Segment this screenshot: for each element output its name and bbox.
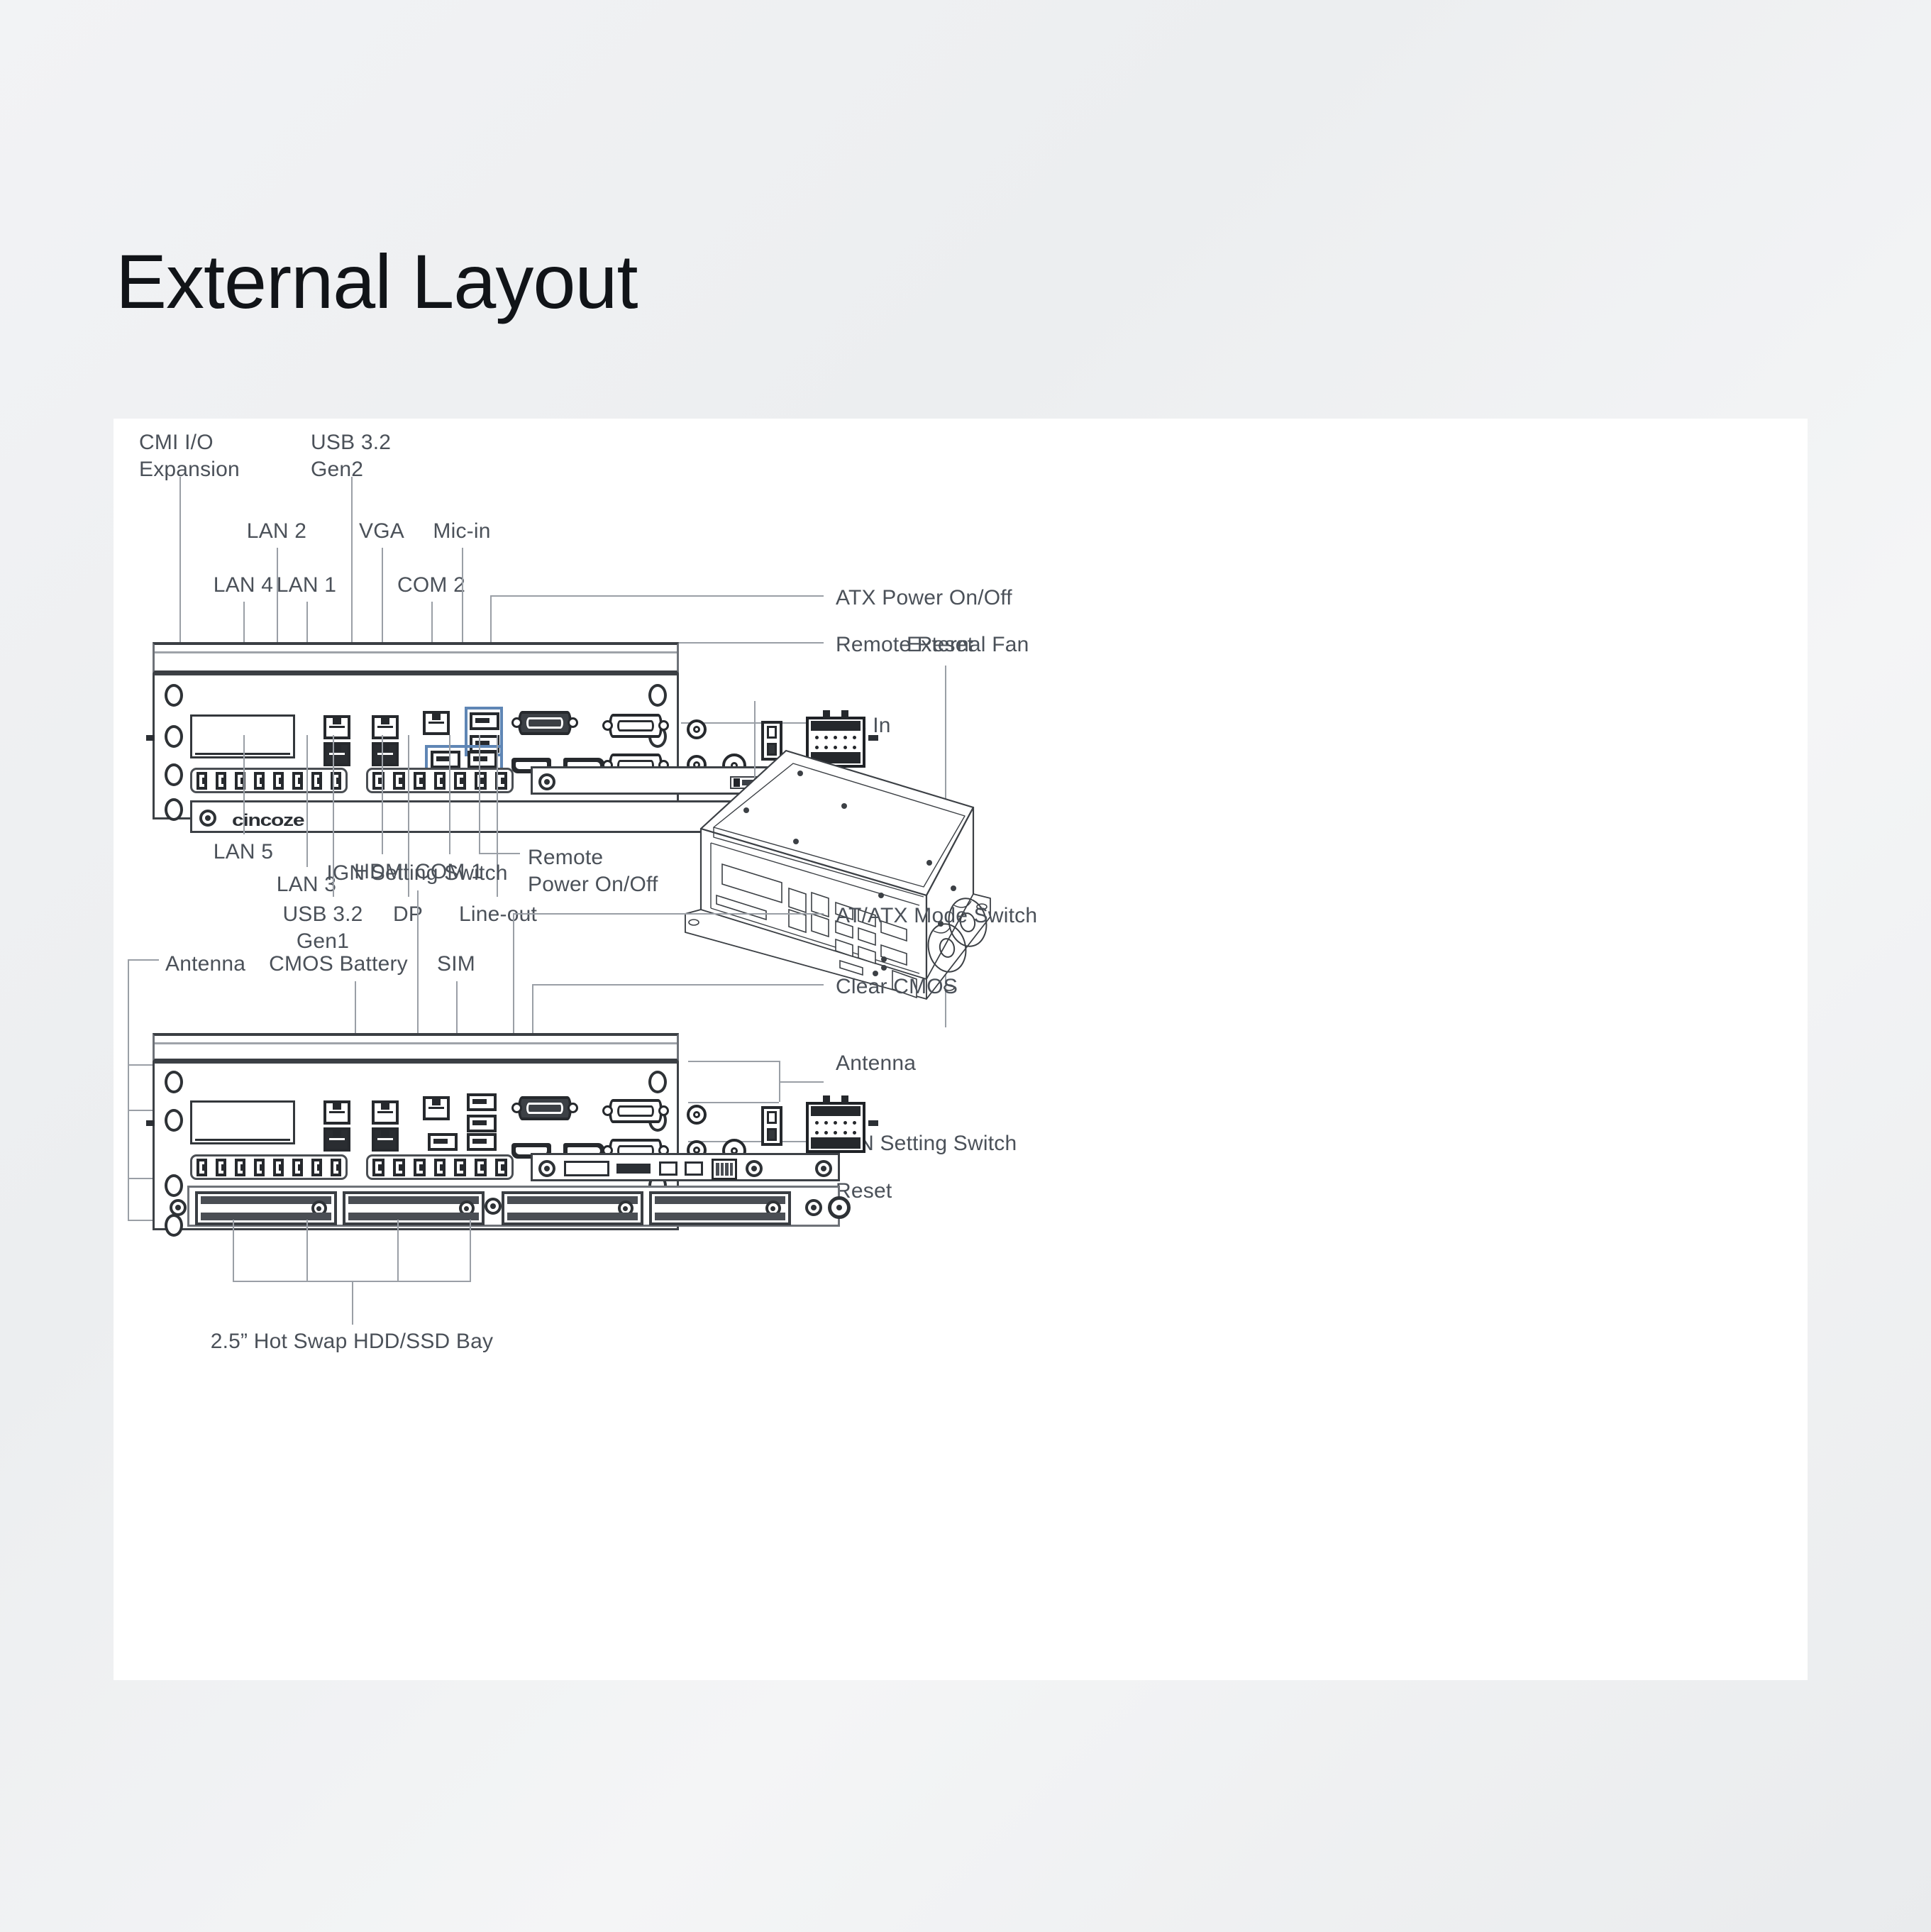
usb-port xyxy=(467,751,497,768)
hdd-bay[interactable] xyxy=(502,1191,643,1225)
label-atx-power-on-off: ATX Power On/Off xyxy=(836,585,1012,612)
hdd-bay[interactable] xyxy=(649,1191,791,1225)
plate-screw xyxy=(746,1160,763,1177)
cmos-battery-holder xyxy=(564,1161,609,1176)
rear-cmi-slot xyxy=(190,1100,295,1144)
rear-panel-chassis xyxy=(153,1033,679,1230)
lan-port xyxy=(372,1100,399,1125)
leader-ign-right xyxy=(688,1141,824,1142)
antenna-hole xyxy=(165,1109,183,1132)
led-icon xyxy=(311,772,322,790)
ign-setting-switch xyxy=(712,1159,737,1180)
rear-panel-rail xyxy=(153,1033,679,1061)
label-antenna-right: Antenna xyxy=(836,1050,916,1077)
usb-port xyxy=(428,1133,458,1151)
usb-port xyxy=(467,1093,497,1111)
leader-lan2 xyxy=(277,548,278,643)
antenna-hole xyxy=(165,1071,183,1093)
label-ign-setting-switch-top: IGN Setting Switch xyxy=(326,860,507,887)
lan3-port xyxy=(372,742,399,766)
label-external-fan: External Fan xyxy=(907,631,1029,658)
led-indicator-strip xyxy=(190,768,348,793)
dp-icon xyxy=(454,1159,466,1176)
leader-at-atx-h xyxy=(513,913,824,915)
leader-lan1 xyxy=(306,602,308,643)
leader-antenna-right-stub xyxy=(779,1081,824,1083)
usb-icon xyxy=(414,772,426,790)
lan1-port xyxy=(372,715,399,739)
led-icon xyxy=(216,1159,226,1176)
leader-ign-top xyxy=(417,890,419,1033)
sim-slot xyxy=(616,1164,651,1174)
switch-row-plate xyxy=(531,1153,840,1181)
usb-icon xyxy=(414,1159,426,1176)
leader-clear-cmos-h xyxy=(532,984,824,986)
label-lan4: LAN 4 xyxy=(214,572,273,599)
bay-screw xyxy=(170,1199,187,1216)
label-lan2: LAN 2 xyxy=(247,518,306,545)
leader-com2 xyxy=(431,602,433,643)
leader-bay-2 xyxy=(306,1220,308,1282)
hdmi-icon xyxy=(434,1159,446,1176)
leader-com1 xyxy=(449,735,450,854)
hdd-bay[interactable] xyxy=(343,1191,485,1225)
port-icon-strip xyxy=(366,768,514,793)
vga-port xyxy=(518,1096,572,1120)
mount-hole xyxy=(165,725,183,748)
mount-hole xyxy=(165,798,183,821)
plate-screw xyxy=(538,773,555,790)
front-panel-rail xyxy=(153,642,679,673)
led-icon xyxy=(292,772,303,790)
clear-cmos-jumper xyxy=(659,1161,677,1176)
cmi-io-expansion-slot xyxy=(190,714,295,758)
audio-icon xyxy=(475,772,487,790)
leader-bay-3 xyxy=(397,1220,399,1282)
leader-bay-drop xyxy=(352,1281,353,1325)
page-title: External Layout xyxy=(116,241,637,321)
bay-screw-large xyxy=(828,1196,851,1219)
label-remote-power-on-off: Remote Power On/Off xyxy=(528,844,658,899)
label-at-atx-mode-switch: AT/ATX Mode Switch xyxy=(836,902,1037,929)
label-clear-cmos: Clear CMOS xyxy=(836,973,958,1000)
lan4-port xyxy=(323,715,350,739)
label-line-out: Line-out xyxy=(459,901,537,928)
mount-hole xyxy=(165,763,183,786)
dc-in-terminal xyxy=(806,1102,865,1153)
leader-remote-power-v xyxy=(479,735,480,854)
antenna-hole xyxy=(165,1214,183,1237)
label-sim: SIM xyxy=(437,951,475,978)
leader-mic-in xyxy=(462,548,463,643)
mic-in-jack xyxy=(687,1105,707,1125)
bay-screw xyxy=(805,1199,822,1216)
leader-lan3 xyxy=(306,735,308,867)
led-icon xyxy=(216,772,226,790)
antenna-hole xyxy=(165,1174,183,1197)
led-icon xyxy=(197,1159,207,1176)
lan-port xyxy=(323,1100,350,1125)
front-panel-chassis: cincoze xyxy=(153,642,679,819)
label-com2: COM 2 xyxy=(397,572,465,599)
usb-port xyxy=(467,1115,497,1132)
label-usb32-gen2: USB 3.2 Gen2 xyxy=(311,429,391,484)
usb-port xyxy=(467,1133,497,1151)
leader-bay-1 xyxy=(233,1220,234,1282)
label-lan1: LAN 1 xyxy=(277,572,336,599)
leader-sim xyxy=(456,981,458,1033)
lan2-port xyxy=(423,711,450,735)
led-icon xyxy=(292,1159,303,1176)
leader-cmi-io xyxy=(179,477,181,643)
com-icon xyxy=(495,1159,507,1176)
dp-icon xyxy=(454,772,466,790)
lan-port xyxy=(372,1127,399,1152)
led-icon xyxy=(254,772,265,790)
label-cmi-io-expansion: CMI I/O Expansion xyxy=(139,429,240,484)
audio-icon xyxy=(475,1159,487,1176)
label-vga: VGA xyxy=(359,518,404,545)
hdd-bay-row xyxy=(187,1186,840,1227)
hdmi-icon xyxy=(434,772,446,790)
lan5-port xyxy=(323,742,350,766)
leader-vga xyxy=(382,548,383,643)
at-atx-mode-switch xyxy=(685,1161,703,1176)
hdd-bay[interactable] xyxy=(195,1191,337,1225)
leader-lan4 xyxy=(243,602,245,643)
front-panel-body: cincoze xyxy=(153,673,679,819)
led-indicator-strip xyxy=(190,1154,348,1180)
leader-lan5 xyxy=(243,735,245,834)
dc-in-nub xyxy=(868,1120,878,1126)
antenna-hole xyxy=(648,1071,667,1093)
label-cmos-battery: CMOS Battery xyxy=(269,951,408,978)
plate-screw xyxy=(199,810,216,827)
plate-screw xyxy=(815,1160,832,1177)
port-icon-strip xyxy=(366,1154,514,1180)
side-nub xyxy=(146,1120,155,1126)
leader-antenna-left-stub xyxy=(128,959,159,961)
com2-port xyxy=(609,714,663,738)
led-icon xyxy=(273,1159,284,1176)
label-lan5: LAN 5 xyxy=(214,839,273,866)
vga-port xyxy=(518,711,572,735)
rear-panel-body xyxy=(153,1061,679,1230)
bay-screw xyxy=(485,1198,502,1215)
leader-remote-power-h xyxy=(479,853,520,854)
leader-usb32gen2 xyxy=(351,477,353,643)
led-icon xyxy=(331,1159,341,1176)
led-icon xyxy=(254,1159,265,1176)
lan-icon xyxy=(393,772,405,790)
usb-port xyxy=(470,712,499,730)
led-icon xyxy=(311,1159,322,1176)
label-antenna-left: Antenna xyxy=(165,951,245,978)
led-icon xyxy=(235,1159,245,1176)
mount-hole xyxy=(648,684,667,707)
led-icon xyxy=(197,772,207,790)
led-icon xyxy=(273,772,284,790)
usb-port xyxy=(431,751,460,768)
plate-screw xyxy=(538,1160,555,1177)
label-hdd-ssd-bay: 2.5” Hot Swap HDD/SSD Bay xyxy=(211,1328,493,1355)
remote-power-reset-terminal xyxy=(761,1106,782,1146)
lan-port xyxy=(423,1096,450,1120)
com-port xyxy=(609,1099,663,1123)
slide-root: External Layout CMI I/O Expansion USB 3.… xyxy=(0,0,1931,1932)
label-mic-in: Mic-in xyxy=(433,518,490,545)
label-usb32-gen1: USB 3.2 Gen1 xyxy=(282,901,363,956)
lan-icon xyxy=(393,1159,405,1176)
side-nub xyxy=(146,735,155,741)
leader-bay-4 xyxy=(470,1220,471,1282)
diagram-canvas: CMI I/O Expansion USB 3.2 Gen2 LAN 2 VGA… xyxy=(114,419,1808,1680)
leader-cmos-battery xyxy=(355,981,356,1033)
leader-antenna-left-spine xyxy=(128,959,129,1220)
leader-antenna-right-a xyxy=(688,1061,779,1062)
lan-port xyxy=(323,1127,350,1152)
power-icon xyxy=(372,1159,384,1176)
mount-hole xyxy=(165,684,183,707)
leader-antenna-right-b xyxy=(688,1102,779,1103)
leader-atx-h xyxy=(490,595,824,597)
leader-hdmi xyxy=(382,735,383,854)
